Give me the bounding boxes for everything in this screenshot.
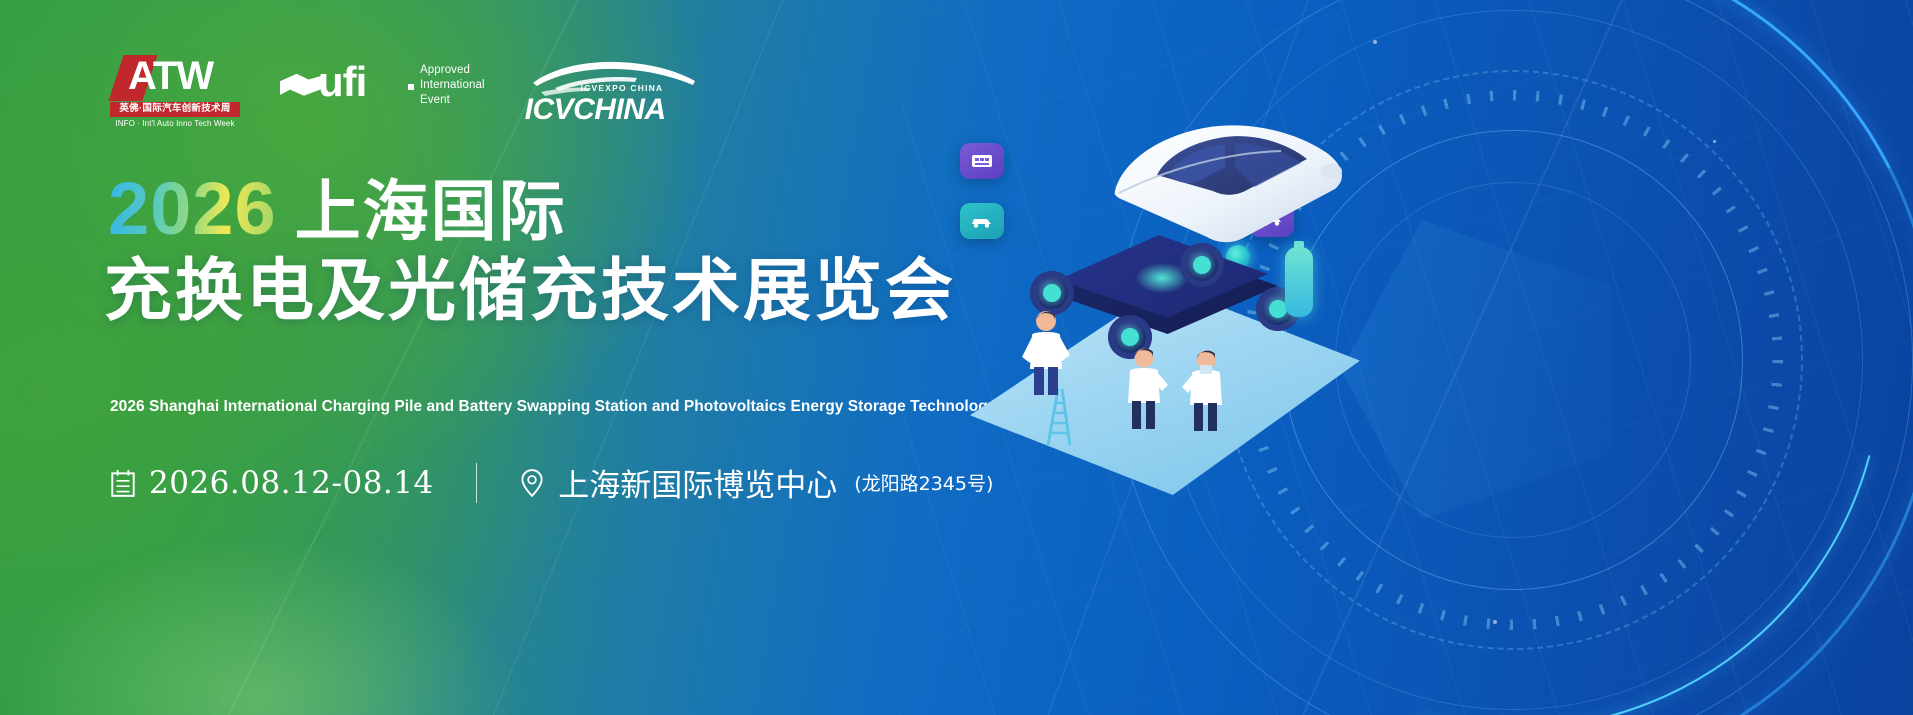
venue-block: 上海新国际博览中心 (龙阳路2345号) — [519, 460, 993, 505]
atw-letters: ATW — [128, 54, 213, 99]
info-divider — [476, 463, 478, 503]
ufi-dot — [408, 84, 414, 90]
date-block: 2026.08.12-08.14 — [110, 465, 434, 501]
calendar-icon — [110, 468, 136, 498]
ufi-mark: ufi — [280, 62, 430, 108]
ev-car-body — [1095, 105, 1365, 255]
background-glow — [0, 535, 520, 715]
atw-logo: ATW 英佛·国际汽车创新技术周 INFO · Int'l Auto Inno … — [110, 55, 240, 128]
engineer-figure — [1180, 347, 1232, 435]
icv-china-logo: ICVEXPO CHINA ICVCHINA — [525, 55, 690, 127]
event-date: 2026.08.12-08.14 — [149, 465, 434, 501]
atw-mark: ATW — [110, 55, 240, 101]
ev-car-icon — [960, 203, 1004, 239]
title-line-1: 2026 上海国际 — [108, 172, 567, 246]
atw-english-sub: INFO · Int'l Auto Inno Tech Week — [110, 119, 240, 128]
engineer-figure — [1118, 345, 1170, 433]
map-pin-icon — [519, 468, 545, 498]
charging-station-icon — [960, 143, 1004, 179]
venue-name: 上海新国际博览中心 — [558, 460, 837, 505]
battery-icon — [1285, 247, 1313, 317]
icv-expo-text: ICVEXPO CHINA — [581, 83, 664, 93]
title-chinese-1: 上海国际 — [295, 179, 567, 245]
wheel — [1180, 243, 1224, 287]
ev-charging-isometric-illustration — [930, 95, 1430, 495]
logo-row: ATW 英佛·国际汽车创新技术周 INFO · Int'l Auto Inno … — [110, 55, 690, 128]
ufi-wordmark: ufi — [318, 58, 366, 106]
icv-car-icon: ICVEXPO CHINA — [525, 57, 690, 97]
ufi-logo: ufi Approved International Event — [280, 55, 485, 109]
title-year: 2026 — [108, 172, 277, 246]
event-info-row: 2026.08.12-08.14 上海新国际博览中心 (龙阳路2345号) — [110, 460, 993, 505]
atw-chinese-bar: 英佛·国际汽车创新技术周 — [110, 102, 240, 117]
exhibition-banner: ATW 英佛·国际汽车创新技术周 INFO · Int'l Auto Inno … — [0, 0, 1913, 715]
title-chinese-2: 充换电及光储充技术展览会 — [104, 258, 956, 326]
engineer-figure — [1018, 307, 1074, 399]
